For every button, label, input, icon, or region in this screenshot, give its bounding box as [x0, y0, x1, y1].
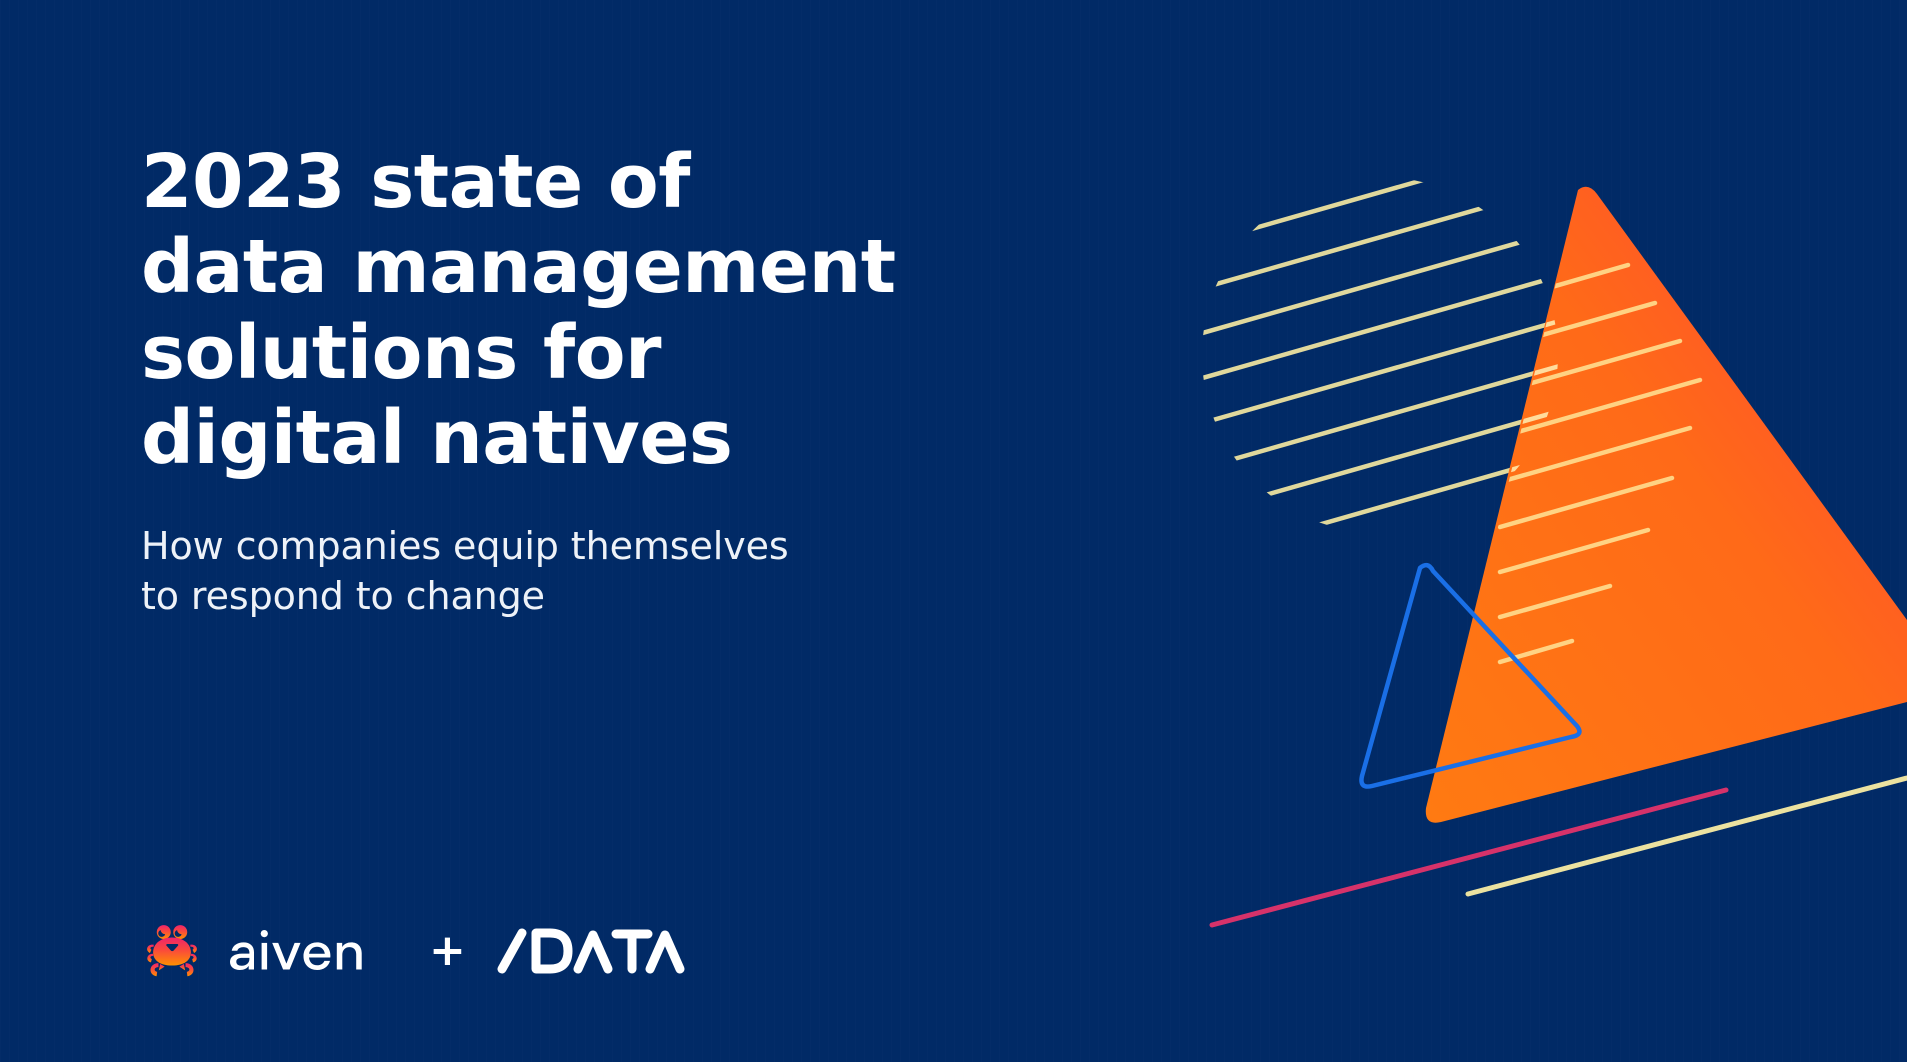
orange-triangle — [1426, 187, 1907, 823]
presentation-slide: 2023 state of data management solutions … — [0, 0, 1907, 1062]
logo-separator-plus: + — [429, 929, 466, 973]
aiven-wordmark: aiven — [225, 923, 385, 979]
hero-text-block: 2023 state of data management solutions … — [141, 140, 971, 622]
page-subtitle: How companies equip themselves to respon… — [141, 521, 971, 622]
aiven-crab-icon — [141, 920, 203, 982]
idata-wordmark-icon: /DATA — [496, 925, 686, 977]
logo-lockup: aiven + /DATA — [141, 920, 686, 982]
page-title: 2023 state of data management solutions … — [141, 140, 971, 482]
